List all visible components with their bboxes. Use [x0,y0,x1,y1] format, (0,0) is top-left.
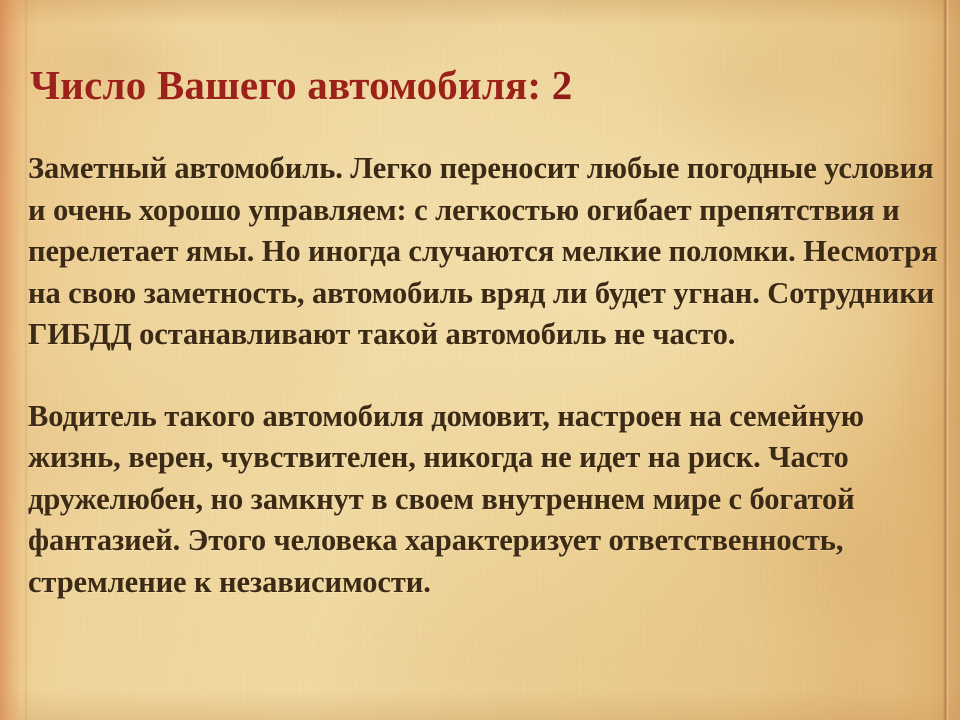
body-paragraph-1: Заметный автомобиль. Легко переносит люб… [28,148,940,356]
body-paragraph-2: Водитель такого автомобиля домовит, наст… [28,396,940,604]
presentation-slide: Число Вашего автомобиля: 2 Заметный авто… [0,0,960,720]
heading-number-value: 2 [552,62,573,108]
slide-heading: Число Вашего автомобиля: 2 [30,62,572,109]
slide-content: Число Вашего автомобиля: 2 Заметный авто… [0,0,960,720]
slide-body: Заметный автомобиль. Легко переносит люб… [28,148,940,603]
heading-label: Число Вашего автомобиля: [30,62,552,108]
